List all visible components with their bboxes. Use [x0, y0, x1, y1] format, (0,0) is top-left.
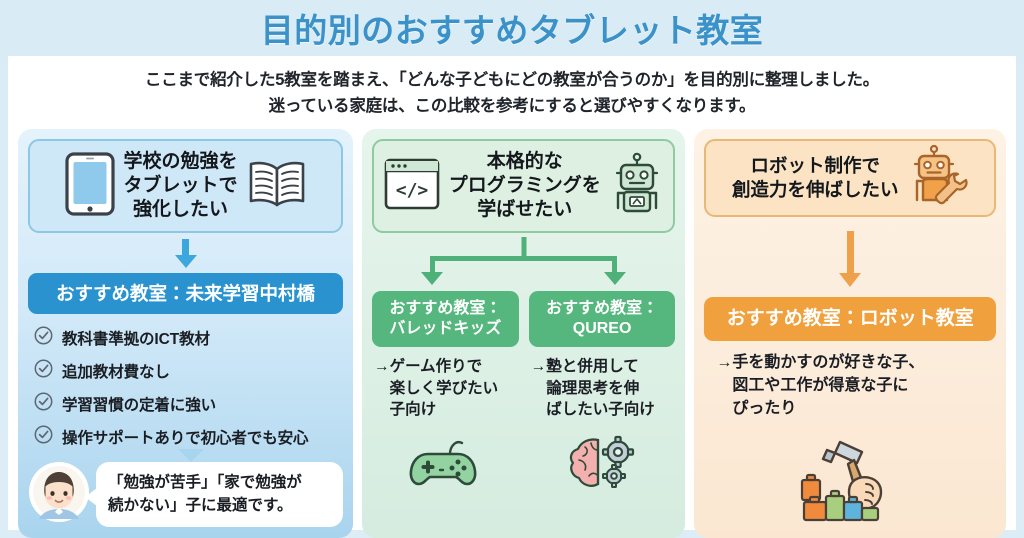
bubble-row-blue: 「勉強が苦手」「家で勉強が 続かない」子に最適です。 — [28, 461, 343, 528]
svg-text:</>: </> — [395, 180, 428, 201]
gamepad-icon-wrap — [372, 434, 519, 495]
fork-bar — [430, 256, 617, 261]
arrow-orange — [704, 231, 996, 287]
arrow-fork-green — [372, 237, 675, 289]
title-bar: 目的別のおすすめタブレット教室 — [0, 0, 1024, 56]
check-item-label: 教科書準拠のICT教材 — [62, 327, 210, 349]
column-green: </> 本格的な プログラミングを 学ばせたい — [362, 129, 685, 538]
check-item: 教科書準拠のICT教材 — [34, 326, 343, 350]
arrow-head — [175, 255, 197, 268]
arrow-stem — [847, 231, 854, 273]
check-item-label: 追加教材費なし — [62, 360, 170, 382]
goal-text-green: 本格的な プログラミングを 学ばせたい — [449, 150, 601, 223]
check-item: 学習習慣の定着に強い — [34, 392, 343, 416]
goal-card-blue: 学校の勉強を タブレットで 強化したい — [28, 139, 343, 233]
check-item-label: 操作サポートありで初心者でも安心 — [62, 426, 308, 448]
arrow-head — [839, 273, 861, 287]
robot-green-icon — [609, 152, 665, 221]
lead-line-2: 迷っている家庭は、この比較を参考にすると選びやすくなります。 — [18, 94, 1006, 120]
checklist-blue: 教科書準拠のICT教材 追加教材費なし — [34, 326, 343, 449]
content-sheet: ここまで紹介した5教室を踏まえ、「どんな子どもにどの教室が合うのか」を目的別に整… — [8, 56, 1016, 530]
recommend-badge-blue: おすすめ教室：未来学習中村橋 — [28, 273, 343, 314]
description-valed: →ゲーム作りで 楽しく学びたい 子向け — [372, 356, 519, 420]
columns-container: 学校の勉強を タブレットで 強化したい — [18, 129, 1006, 538]
check-circle-icon — [34, 392, 53, 416]
goal-text-orange: ロボット制作で 創造力を伸ばしたい — [732, 154, 899, 201]
lead-paragraph: ここまで紹介した5教室を踏まえ、「どんな子どもにどの教室が合うのか」を目的別に整… — [18, 68, 1006, 119]
tablet-icon — [64, 151, 116, 222]
recommend-badge-orange: おすすめ教室：ロボット教室 — [704, 297, 996, 341]
check-circle-icon — [34, 359, 53, 383]
subcolumn-valed: おすすめ教室： バレッドキッズ →ゲーム作りで 楽しく学びたい 子向け — [372, 291, 519, 495]
goal-text-blue: 学校の勉強を タブレットで 強化したい — [124, 150, 238, 223]
fork-stem — [521, 237, 526, 258]
lead-line-1: ここまで紹介した5教室を踏まえ、「どんな子どもにどの教室が合うのか」を目的別に整… — [18, 68, 1006, 94]
robot-wrench-icon — [906, 144, 968, 213]
brain-gears-icon — [565, 434, 639, 495]
bubble-section-caret — [178, 449, 204, 462]
boy-avatar-icon — [28, 461, 90, 528]
fork-head-right — [604, 272, 626, 285]
page-title: 目的別のおすすめタブレット教室 — [261, 4, 764, 52]
hammer-blocks-icon — [796, 434, 904, 531]
subcolumn-qureo: おすすめ教室： QUREO →塾と併用して 論理思考を伸 ばしたい子向け — [529, 291, 676, 495]
open-book-icon — [246, 158, 308, 215]
column-orange: ロボット制作で 創造力を伸ばしたい — [694, 129, 1006, 538]
goal-card-green: </> 本格的な プログラミングを 学ばせたい — [372, 139, 675, 233]
brain-gears-icon-wrap — [529, 434, 676, 495]
recommend-badge-qureo: おすすめ教室： QUREO — [529, 291, 676, 347]
check-circle-icon — [34, 326, 53, 350]
arrow-stem — [182, 239, 189, 255]
check-item: 操作サポートありで初心者でも安心 — [34, 425, 343, 449]
fork-head-left — [421, 272, 443, 285]
infographic-page: 目的別のおすすめタブレット教室 ここまで紹介した5教室を踏まえ、「どんな子どもに… — [0, 0, 1024, 538]
code-window-icon: </> — [383, 156, 441, 217]
recommend-badge-valed: おすすめ教室： バレッドキッズ — [372, 291, 519, 347]
green-subcolumns: おすすめ教室： バレッドキッズ →ゲーム作りで 楽しく学びたい 子向け — [372, 291, 675, 495]
check-circle-icon — [34, 425, 53, 449]
description-qureo: →塾と併用して 論理思考を伸 ばしたい子向け — [529, 356, 676, 420]
check-item: 追加教材費なし — [34, 359, 343, 383]
column-blue: 学校の勉強を タブレットで 強化したい — [18, 129, 353, 538]
description-orange: →手を動かすのが好きな子、 図工や工作が得意な子に ぴったり — [716, 351, 996, 421]
gamepad-icon — [406, 434, 484, 495]
goal-card-orange: ロボット制作で 創造力を伸ばしたい — [704, 139, 996, 217]
arrow-blue — [28, 239, 343, 268]
check-item-label: 学習習慣の定着に強い — [62, 393, 216, 415]
hammer-blocks-icon-wrap — [704, 434, 996, 531]
bubble-blue: 「勉強が苦手」「家で勉強が 続かない」子に最適です。 — [96, 462, 343, 527]
